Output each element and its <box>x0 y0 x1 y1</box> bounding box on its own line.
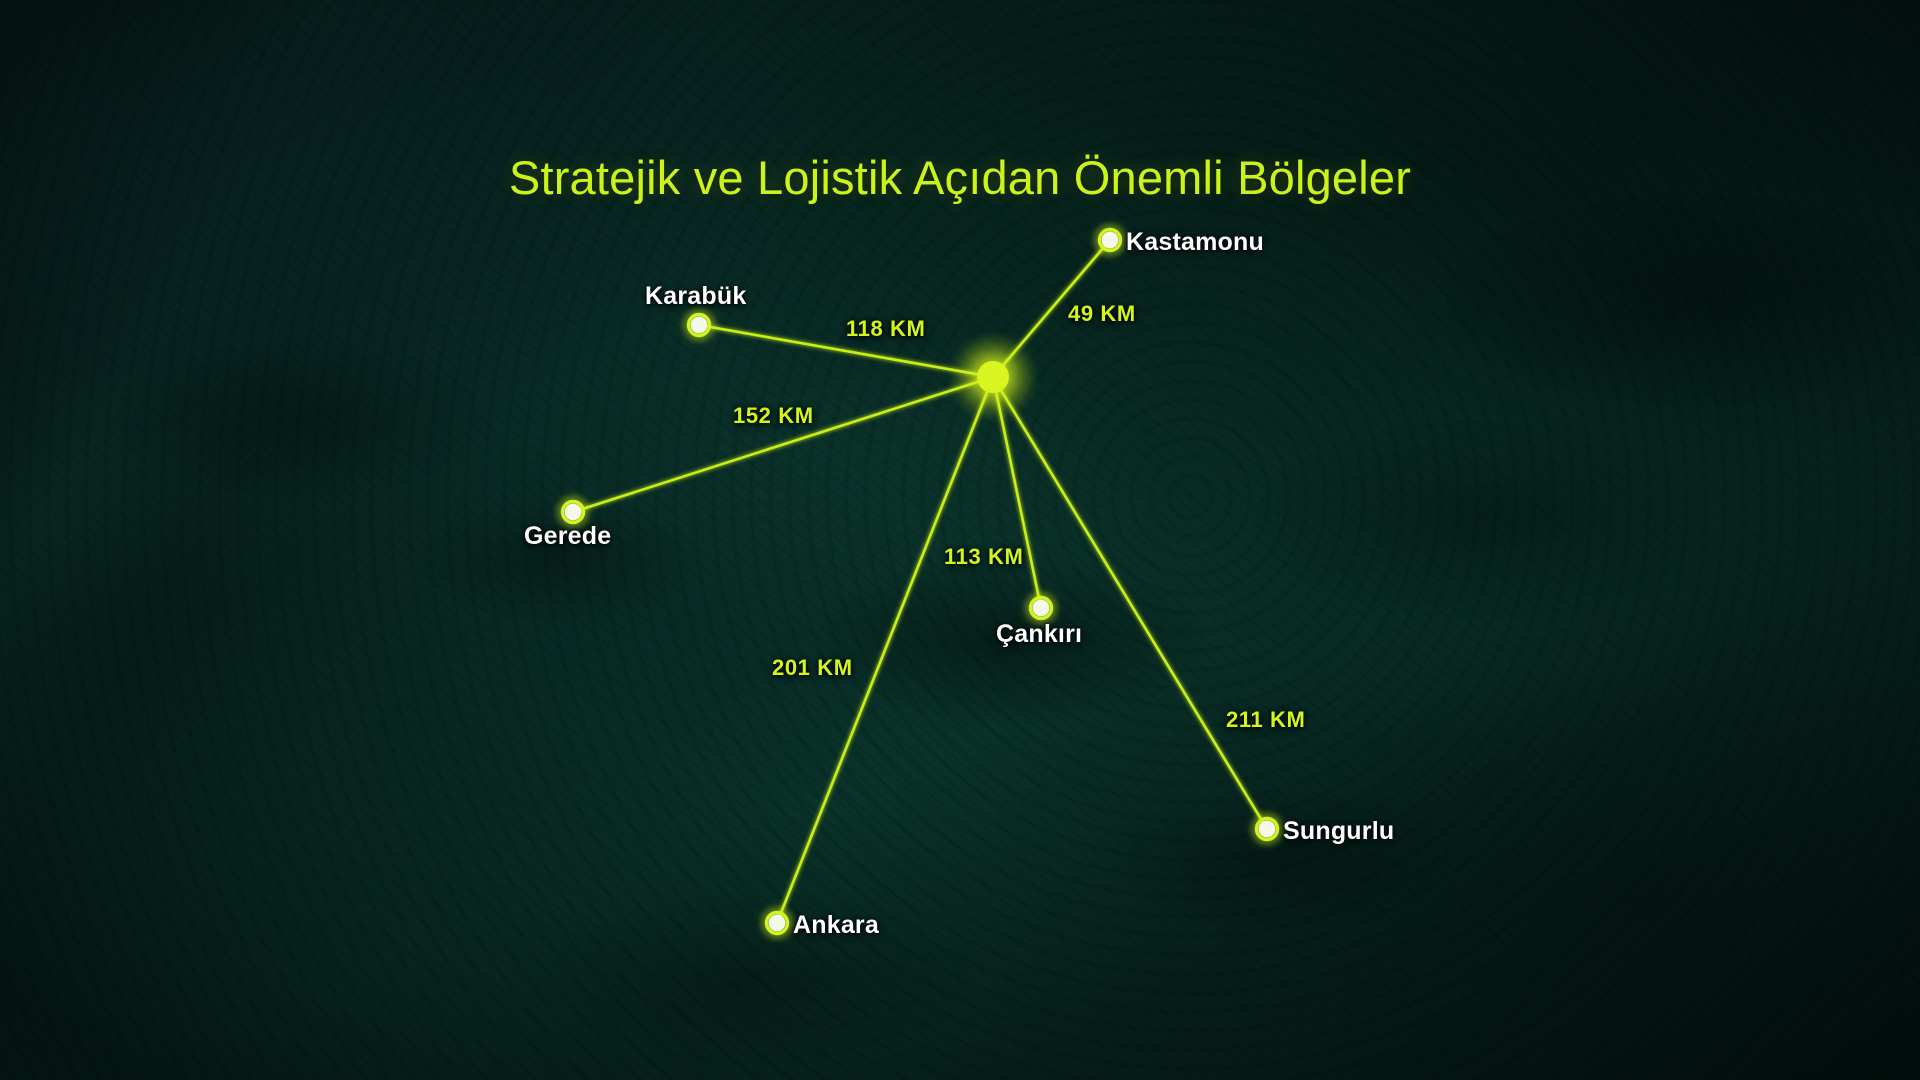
city-label-kastamonu: Kastamonu <box>1126 228 1264 257</box>
city-label-cankiri: Çankırı <box>996 620 1082 649</box>
city-label-gerede: Gerede <box>524 522 611 551</box>
distance-label-cankiri: 113 KM <box>944 544 1023 570</box>
city-node-cankiri[interactable] <box>1033 600 1050 617</box>
city-label-ankara: Ankara <box>793 911 879 940</box>
city-label-karabuk: Karabük <box>645 282 746 311</box>
hub-node-merkez-hub[interactable] <box>977 361 1009 393</box>
city-node-sungurlu[interactable] <box>1259 821 1276 838</box>
distance-label-gerede: 152 KM <box>733 403 814 429</box>
connection-line-gerede <box>573 377 993 512</box>
city-label-sungurlu: Sungurlu <box>1283 817 1394 846</box>
city-node-gerede[interactable] <box>565 504 582 521</box>
map-visualization: Stratejik ve Lojistik Açıdan Önemli Bölg… <box>0 0 1920 1080</box>
distance-label-sungurlu: 211 KM <box>1226 707 1305 733</box>
connection-network <box>0 0 1920 1080</box>
city-node-ankara[interactable] <box>769 915 786 932</box>
connection-line-ankara <box>777 377 993 923</box>
distance-label-ankara: 201 KM <box>772 655 853 681</box>
distance-label-kastamonu: 49 KM <box>1068 301 1136 327</box>
connection-lines <box>573 240 1267 923</box>
city-node-karabuk[interactable] <box>691 317 708 334</box>
city-node-kastamonu[interactable] <box>1102 232 1119 249</box>
distance-label-karabuk: 118 KM <box>846 316 925 342</box>
